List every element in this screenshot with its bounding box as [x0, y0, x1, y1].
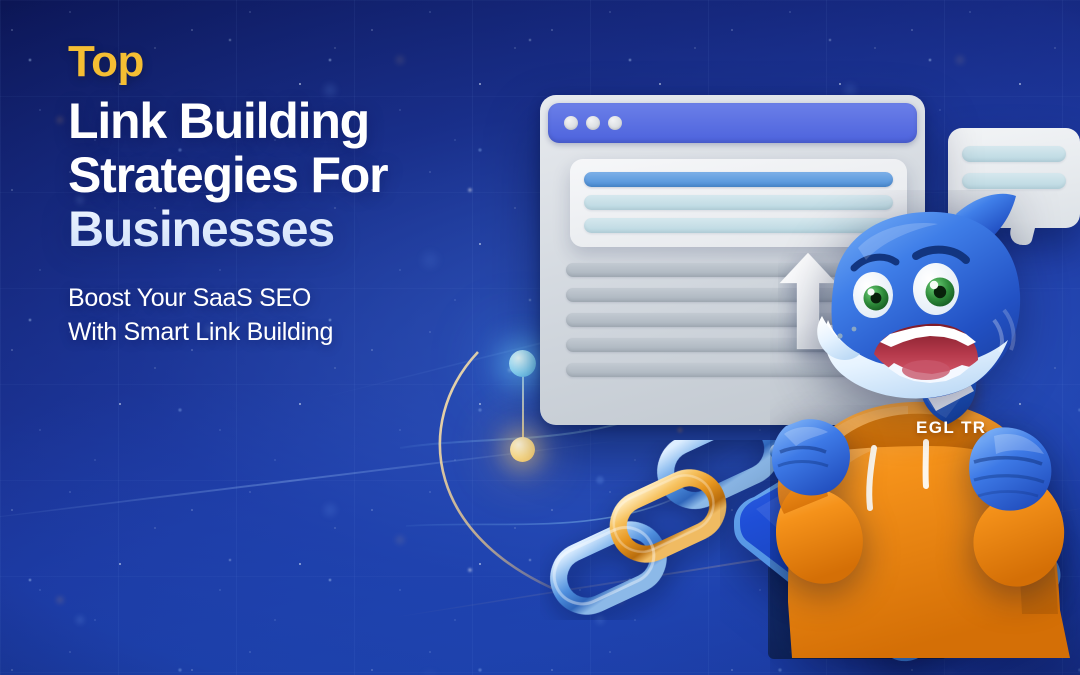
chat-bubble-bar-1: [962, 146, 1066, 162]
window-dot-minimize-icon[interactable]: [586, 116, 600, 130]
page-title: Link Building Strategies For Businesses: [68, 94, 538, 256]
shark-head: [817, 194, 1020, 399]
chat-bubble-bar-2: [962, 173, 1066, 189]
window-controls[interactable]: [564, 116, 622, 130]
hoodie-brand-label: EGL TR: [916, 418, 986, 438]
eyebrow-text: Top: [68, 40, 538, 84]
nostril-left: [837, 333, 842, 338]
content-bar-primary: [584, 172, 893, 187]
cyan-node-icon: [509, 350, 536, 377]
subtitle-line-1: Boost Your SaaS SEO: [68, 282, 538, 316]
subtitle-line-2: With Smart Link Building: [68, 316, 538, 350]
headline-block: Top Link Building Strategies For Busines…: [68, 40, 538, 350]
browser-titlebar: [548, 103, 917, 143]
window-dot-maximize-icon[interactable]: [608, 116, 622, 130]
window-dot-close-icon[interactable]: [564, 116, 578, 130]
eye-right: [913, 263, 959, 315]
headline-line-3: Businesses: [68, 202, 538, 256]
subtitle: Boost Your SaaS SEO With Smart Link Buil…: [68, 282, 538, 350]
gold-node-icon: [510, 437, 535, 462]
eye-left: [853, 272, 893, 318]
banner-canvas: Top Link Building Strategies For Busines…: [0, 0, 1080, 675]
headline-line-1: Link Building: [68, 94, 538, 148]
nostril-right: [852, 327, 857, 332]
headline-line-2: Strategies For: [68, 148, 538, 202]
